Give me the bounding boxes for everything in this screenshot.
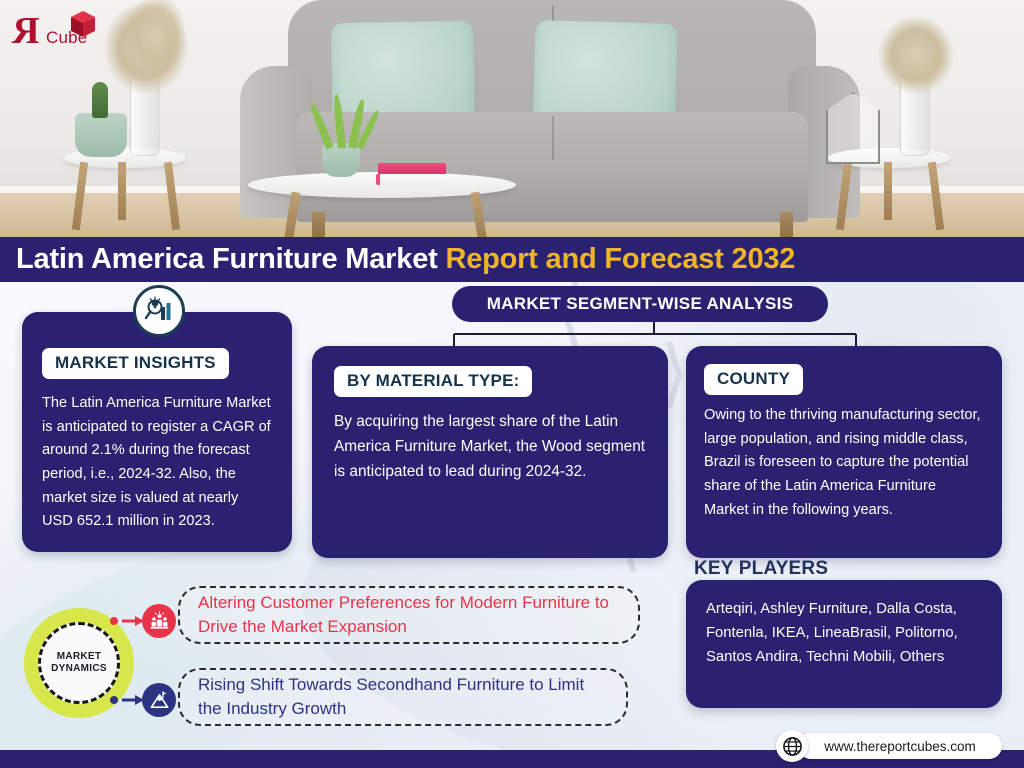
market-dynamics-inner-circle: MARKET DYNAMICS <box>38 622 120 704</box>
county-label: COUNTY <box>704 364 803 395</box>
by-material-type-card: BY MATERIAL TYPE: By acquiring the large… <box>312 346 668 558</box>
market-driver-text: Altering Customer Preferences for Modern… <box>198 591 620 639</box>
website-url-text: www.thereportcubes.com <box>824 739 976 754</box>
segment-header-label: MARKET SEGMENT-WISE ANALYSIS <box>487 294 794 314</box>
county-card: COUNTY Owing to the thriving manufacturi… <box>686 346 1002 558</box>
market-driver-box: Altering Customer Preferences for Modern… <box>178 586 640 644</box>
driver-arrow-icon <box>122 615 144 627</box>
key-players-title: KEY PLAYERS <box>694 558 828 580</box>
infographic-page: R Cube Latin America Furniture Market Re… <box>0 0 1024 768</box>
website-url-pill[interactable]: www.thereportcubes.com <box>798 733 1002 759</box>
title-bar: Latin America Furniture Market Report an… <box>0 237 1024 282</box>
market-restraint-text: Rising Shift Towards Secondhand Furnitur… <box>198 673 608 721</box>
mountain-flag-icon <box>142 683 176 717</box>
hero-living-room-photo: R Cube <box>0 0 1024 237</box>
logo[interactable]: R Cube <box>12 8 104 54</box>
restraint-bullet-dot <box>110 696 118 704</box>
globe-icon <box>776 730 808 762</box>
title-white: Latin America Furniture Market <box>16 243 438 275</box>
market-restraint-box: Rising Shift Towards Secondhand Furnitur… <box>178 668 628 726</box>
market-insights-card: MARKET INSIGHTS The Latin America Furnit… <box>22 312 292 552</box>
market-insights-body: The Latin America Furniture Market is an… <box>42 392 272 534</box>
restraint-arrow-icon <box>122 694 144 706</box>
driver-bullet-dot <box>110 617 118 625</box>
by-material-type-body: By acquiring the largest share of the La… <box>334 410 646 485</box>
by-material-type-label: BY MATERIAL TYPE: <box>334 366 532 397</box>
people-group-icon <box>142 604 176 638</box>
page-title: Latin America Furniture Market Report an… <box>0 243 795 276</box>
market-dynamics-line2: DYNAMICS <box>51 663 107 674</box>
market-insights-label: MARKET INSIGHTS <box>42 348 229 379</box>
key-players-body: Arteqiri, Ashley Furniture, Dalla Costa,… <box>706 598 982 670</box>
county-body: Owing to the thriving manufacturing sect… <box>704 404 984 522</box>
market-dynamics-label: MARKET DYNAMICS <box>51 651 107 676</box>
title-highlight: Report and Forecast 2032 <box>445 243 795 275</box>
logo-r-mark: R <box>12 12 39 50</box>
key-players-card: Arteqiri, Ashley Furniture, Dalla Costa,… <box>686 580 1002 708</box>
segment-analysis-header: MARKET SEGMENT-WISE ANALYSIS <box>452 286 828 322</box>
market-research-icon <box>133 285 185 337</box>
cube-icon <box>70 10 96 38</box>
market-dynamics-line1: MARKET <box>57 651 102 662</box>
